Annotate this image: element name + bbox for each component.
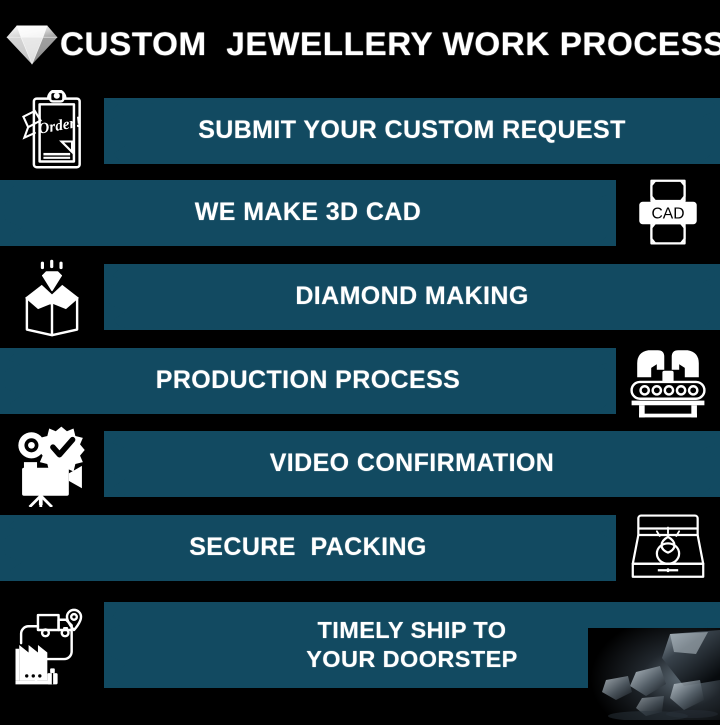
step-row-3: DIAMOND MAKING [0, 254, 720, 340]
factory-truck-delivery-icon [0, 595, 104, 695]
step-row-4: PRODUCTION PROCESS [0, 338, 720, 424]
step-label-3: DIAMOND MAKING [295, 284, 528, 310]
svg-text:CAD: CAD [651, 206, 684, 223]
conveyor-robot-arms-icon [616, 338, 720, 424]
step-row-2: CAD WE MAKE 3D CAD [0, 170, 720, 256]
video-camera-check-icon [0, 421, 104, 507]
poster-header: CUSTOM JEWELLERY WORK PROCESS [0, 16, 720, 72]
step-row-5: VIDEO CONFIRMATION [0, 421, 720, 507]
step-row-1: Order! SUBMIT YOUR CUSTOM REQUEST [0, 88, 720, 174]
step-banner-2[interactable]: WE MAKE 3D CAD [0, 180, 616, 246]
step-label-2: WE MAKE 3D CAD [195, 200, 421, 226]
step-banner-3[interactable]: DIAMOND MAKING [104, 264, 720, 330]
ring-box-icon [616, 505, 720, 591]
step-row-7: TIMELY SHIP TO YOUR DOORSTEP [0, 595, 720, 695]
step-banner-4[interactable]: PRODUCTION PROCESS [0, 348, 616, 414]
step-label-1: SUBMIT YOUR CUSTOM REQUEST [198, 118, 626, 144]
open-box-diamond-icon [0, 254, 104, 340]
step-banner-7[interactable]: TIMELY SHIP TO YOUR DOORSTEP [104, 602, 720, 688]
svg-text:Order!: Order! [37, 113, 83, 137]
cad-printer-icon: CAD [616, 170, 720, 256]
diamond-gem-icon [4, 22, 60, 66]
step-banner-6[interactable]: SECURE PACKING [0, 515, 616, 581]
step-label-7: TIMELY SHIP TO YOUR DOORSTEP [306, 616, 518, 673]
step-banner-5[interactable]: VIDEO CONFIRMATION [104, 431, 720, 497]
clipboard-order-pencil-icon: Order! [0, 88, 104, 174]
page-title: CUSTOM JEWELLERY WORK PROCESS [60, 28, 720, 61]
step-label-6: SECURE PACKING [189, 535, 427, 561]
step-label-5: VIDEO CONFIRMATION [270, 451, 555, 477]
step-banner-1[interactable]: SUBMIT YOUR CUSTOM REQUEST [104, 98, 720, 164]
step-row-6: SECURE PACKING [0, 505, 720, 591]
step-label-4: PRODUCTION PROCESS [156, 368, 460, 394]
